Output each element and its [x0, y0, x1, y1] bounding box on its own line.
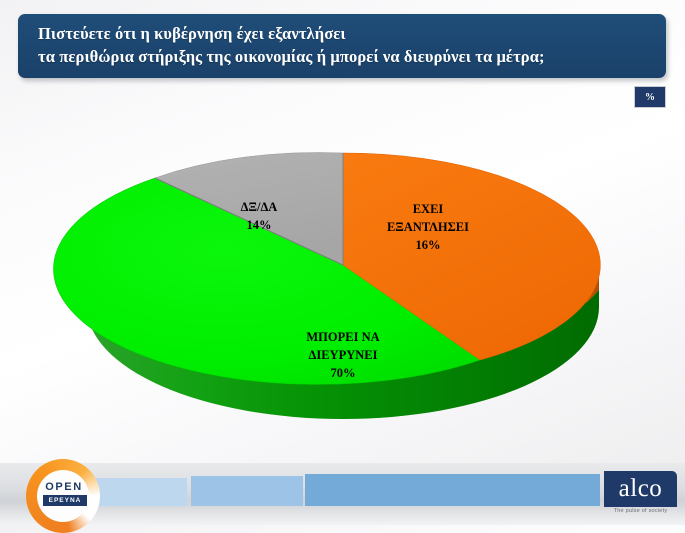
slice-label-orange-line2: ΕΞΑΝΤΛΗΣΕΙ — [387, 220, 469, 234]
slice-value-green: 70% — [331, 366, 356, 380]
open-logo-wordmark: OPEN — [40, 481, 88, 493]
slice-label-gray-line1: ΔΞ/ΔΑ — [241, 200, 278, 214]
footer-accent-bar-1 — [95, 478, 187, 506]
slice-value-orange: 16% — [416, 238, 441, 252]
pie-chart-svg: ΕΧΕΙ ΕΞΑΝΤΛΗΣΕΙ 16% ΔΞ/ΔΑ 14% ΜΠΟΡΕΙ ΝΑ … — [0, 110, 685, 440]
footer-accent-bar-3 — [305, 474, 600, 506]
title-banner: Πιστεύετε ότι η κυβέρνηση έχει εξαντλήσε… — [18, 14, 666, 78]
pie-chart: ΕΧΕΙ ΕΞΑΝΤΛΗΣΕΙ 16% ΔΞ/ΔΑ 14% ΜΠΟΡΕΙ ΝΑ … — [0, 110, 685, 440]
footer-accent-bar-2 — [191, 476, 303, 506]
open-logo-subtitle: ΕΡΕΥΝΑ — [43, 495, 87, 506]
open-erevna-logo: OPEN ΕΡΕΥΝΑ — [26, 459, 104, 525]
alco-logo-wordmark: alco — [604, 471, 677, 507]
slice-label-orange-line1: ΕΧΕΙ — [413, 202, 444, 216]
page-title: Πιστεύετε ότι η κυβέρνηση έχει εξαντλήσε… — [38, 22, 666, 69]
percent-unit-badge: % — [634, 86, 666, 108]
slice-label-green-line2: ΔΙΕΥΡΥΝΕΙ — [309, 348, 378, 362]
alco-logo-tagline: The pulse of society — [604, 508, 677, 514]
slide-canvas: Πιστεύετε ότι η κυβέρνηση έχει εξαντλήσε… — [0, 0, 685, 525]
slice-value-gray: 14% — [247, 218, 272, 232]
slice-label-green-line1: ΜΠΟΡΕΙ ΝΑ — [306, 330, 379, 344]
